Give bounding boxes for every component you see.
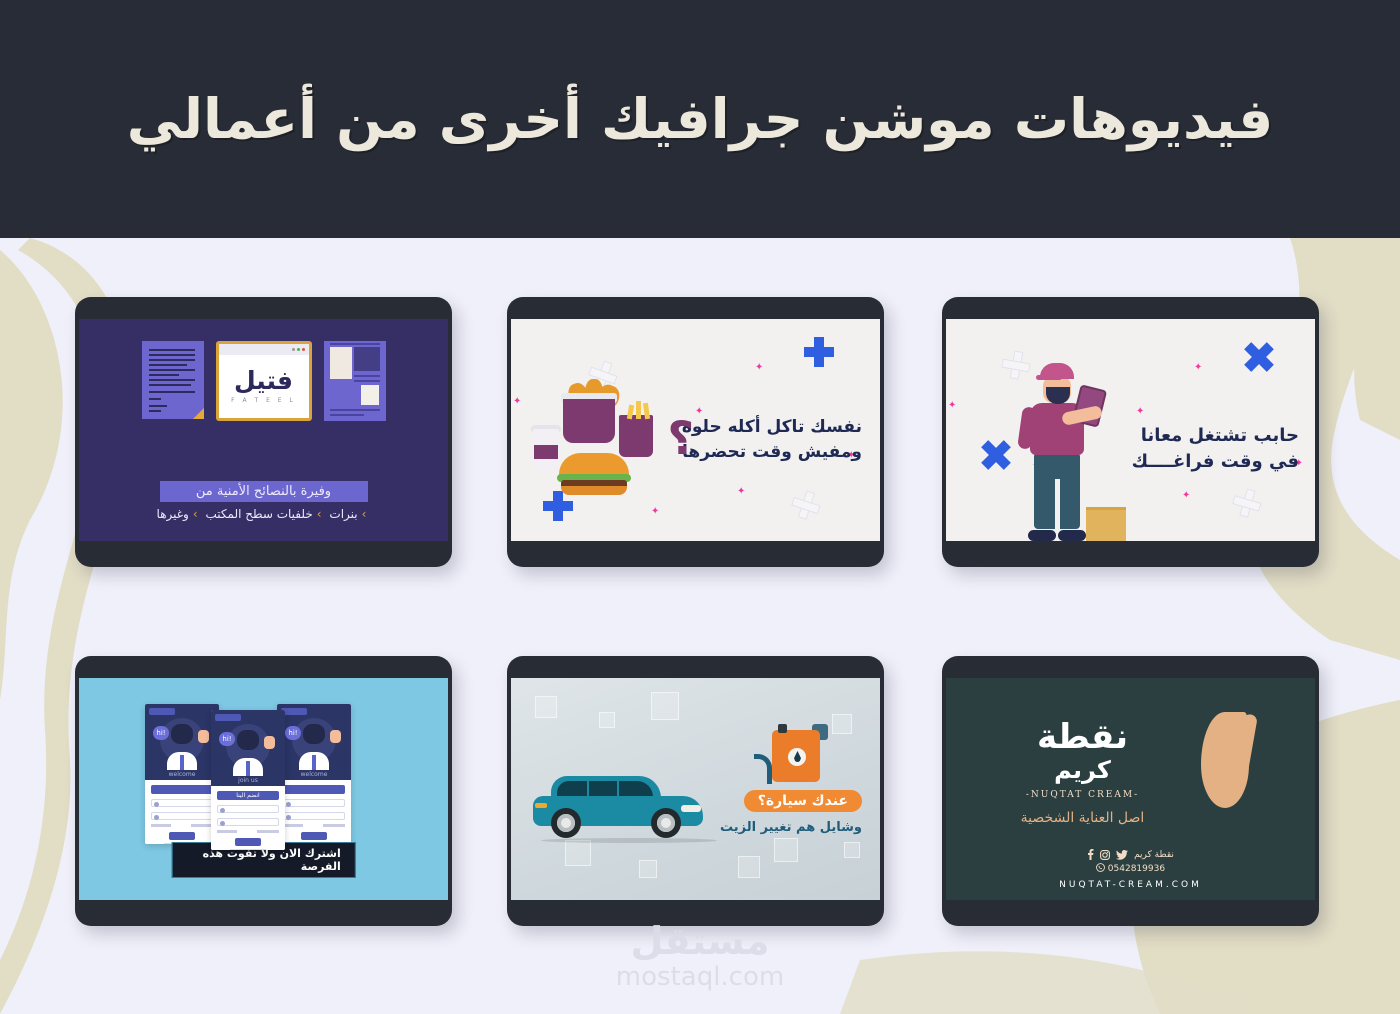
mostaql-watermark: مستقل mostaql.com	[0, 922, 1400, 992]
fast-food-illustration	[533, 377, 661, 497]
login-mockup-center: hi! join us انضم الينا	[211, 710, 285, 850]
person-illustration	[1012, 363, 1112, 541]
video-card-nuqtat-cream[interactable]: نقطة كريم -NUQTAT CREAM- اصل العناية الش…	[942, 656, 1319, 926]
sparkle-icon: ✦	[513, 397, 521, 407]
hi-bubble-left: hi!	[153, 726, 169, 740]
x-icon	[980, 439, 1012, 471]
sparkle-icon: ✦	[737, 487, 745, 497]
brand-name-line1: نقطة	[946, 720, 1219, 754]
card-screen: عندك سيارة؟ وشايل هم تغيير الزيت	[511, 678, 880, 900]
video-card-subscribe[interactable]: hi! welcome	[75, 656, 452, 926]
phone-number: 0542819936	[1108, 864, 1165, 874]
browser-window-icon: فتيل F A T E E L	[216, 341, 312, 421]
car-illustration	[533, 776, 703, 838]
card-screen: ✦ ✦ ✦ ✦ ✦ ✦ ✦	[946, 319, 1315, 541]
social-handle: نقطة كريم	[1134, 850, 1174, 860]
breadcrumb-sep-2: ›	[317, 507, 322, 521]
breadcrumb-sep-1: ›	[362, 507, 367, 521]
fateel-logo-arabic: فتيل	[219, 366, 309, 395]
social-row: نقطة كريم	[946, 849, 1315, 860]
fateel-artwork: فتيل F A T E E L	[79, 341, 448, 453]
browser-titlebar	[219, 344, 309, 355]
fateel-breadcrumb: ›بنرات ›خلفيات سطح المكتب ›وغيرها	[79, 507, 448, 521]
oil-badge: عندك سيارة؟	[744, 790, 862, 812]
instagram-icon[interactable]	[1100, 850, 1110, 860]
mock-join-button[interactable]: انضم الينا	[217, 791, 279, 800]
work-headline: حابب تشتغل معانا في وقت فراغــــك	[1132, 423, 1299, 475]
brand-slogan: اصل العناية الشخصية	[946, 810, 1219, 826]
portfolio-page: فيديوهات موشن جرافيك أخرى من أعمالي	[0, 0, 1400, 1014]
website-url: NUQTAT-CREAM.COM	[946, 880, 1315, 890]
document-icon	[142, 341, 204, 419]
x-icon	[1243, 341, 1275, 373]
video-card-fateel[interactable]: فتيل F A T E E L وف	[75, 297, 452, 567]
whatsapp-icon[interactable]	[1096, 863, 1105, 872]
hi-bubble-center: hi!	[219, 732, 235, 746]
food-headline-line2: ومفيش وقت تحضرها	[682, 440, 862, 465]
video-card-oil-change[interactable]: عندك سيارة؟ وشايل هم تغيير الزيت	[507, 656, 884, 926]
sparkle-icon: ✦	[1182, 491, 1190, 501]
breadcrumb-sep-3: ›	[193, 507, 198, 521]
sparkle-icon: ✦	[948, 401, 956, 411]
fateel-logo-latin: F A T E E L	[219, 397, 309, 404]
page-header: فيديوهات موشن جرافيك أخرى من أعمالي	[0, 0, 1400, 238]
card-screen: hi! welcome	[79, 678, 448, 900]
oil-subtitle: وشايل هم تغيير الزيت	[720, 820, 862, 835]
question-hook-icon	[754, 754, 772, 784]
mock-caption-center: join us	[211, 777, 285, 784]
breadcrumb-item-3: وغيرها	[157, 507, 189, 521]
plus-outline-icon	[1230, 486, 1265, 521]
cards-grid: فتيل F A T E E L وف	[0, 238, 1400, 1014]
oil-can-icon	[772, 724, 828, 782]
fateel-tagline: وفيرة بالنصائح الأمنية من	[160, 481, 368, 502]
sparkle-icon: ✦	[1136, 407, 1144, 417]
video-card-work-with-us[interactable]: ✦ ✦ ✦ ✦ ✦ ✦ ✦	[942, 297, 1319, 567]
card-screen: ✦ ✦ ✦ ✦ ✦ ✦	[511, 319, 880, 541]
card-screen: نقطة كريم -NUQTAT CREAM- اصل العناية الش…	[946, 678, 1315, 900]
watermark-arabic: مستقل	[0, 922, 1400, 960]
burger-icon	[559, 453, 629, 495]
sparkle-icon: ✦	[1194, 363, 1202, 373]
breadcrumb-item-2: خلفيات سطح المكتب	[205, 507, 312, 521]
twitter-icon[interactable]	[1116, 850, 1128, 860]
card-screen: فتيل F A T E E L وف	[79, 319, 448, 541]
food-headline: نفسك تاكل أكله حلوه ومفيش وقت تحضرها	[682, 415, 862, 464]
login-mockup-right: hi! welcome	[277, 704, 351, 844]
hi-bubble-right: hi!	[285, 726, 301, 740]
plus-icon	[804, 337, 834, 367]
plus-outline-icon	[788, 487, 823, 522]
breadcrumb-item-1: بنرات	[329, 507, 357, 521]
mock-caption-right: welcome	[277, 771, 351, 778]
mock-caption-left: welcome	[145, 771, 219, 778]
food-headline-line1: نفسك تاكل أكله حلوه	[682, 415, 862, 440]
sparkle-icon: ✦	[651, 507, 659, 517]
brand-lockup: نقطة كريم -NUQTAT CREAM- اصل العناية الش…	[946, 720, 1315, 826]
video-card-food[interactable]: ✦ ✦ ✦ ✦ ✦ ✦	[507, 297, 884, 567]
work-headline-line2: في وقت فراغــــك	[1132, 449, 1299, 475]
page-title: فيديوهات موشن جرافيك أخرى من أعمالي	[127, 85, 1274, 154]
sparkle-icon: ✦	[755, 363, 763, 373]
brand-name-line2: كريم	[946, 756, 1219, 784]
login-mockup-left: hi! welcome	[145, 704, 219, 844]
phone-row: 0542819936	[946, 863, 1315, 874]
facebook-icon[interactable]	[1087, 849, 1094, 860]
watermark-latin: mostaql.com	[0, 962, 1400, 992]
page-layout-icon	[324, 341, 386, 421]
question-mark-icon: ؟	[667, 415, 694, 461]
brand-name-latin: -NUQTAT CREAM-	[946, 790, 1219, 800]
work-headline-line1: حابب تشتغل معانا	[1132, 423, 1299, 449]
